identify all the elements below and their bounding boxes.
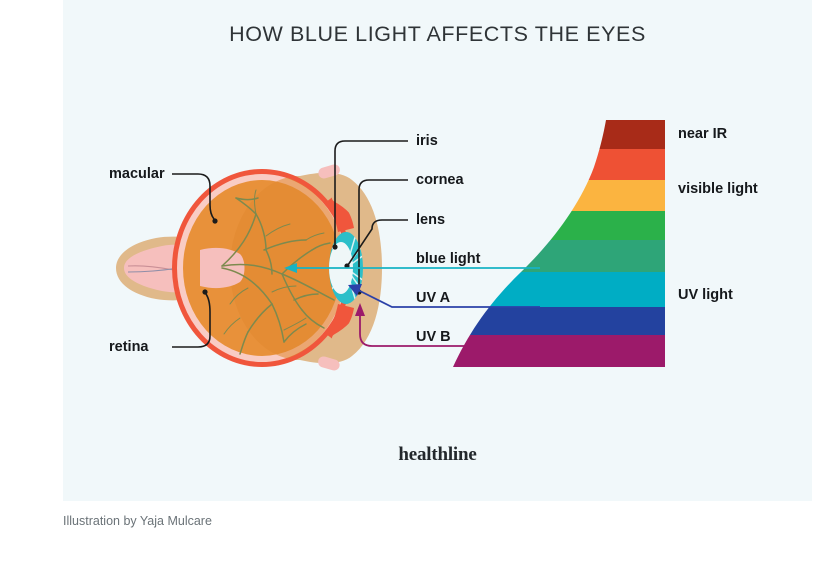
leader-dot-macular xyxy=(212,218,217,223)
leader-dot-iris xyxy=(332,244,337,249)
light-spectrum-fan xyxy=(440,118,670,370)
spectrum-band-magenta xyxy=(440,335,670,370)
spectrum-band-cyan xyxy=(440,272,670,307)
label-cornea: cornea xyxy=(416,173,464,188)
eye-spectrum-illustration xyxy=(0,0,830,501)
label-lens: lens xyxy=(416,213,445,228)
label-visible-light: visible light xyxy=(678,182,758,197)
label-near-ir: near IR xyxy=(678,127,727,142)
spectrum-band-blue xyxy=(440,307,670,335)
label-uv-a: UV A xyxy=(416,291,450,306)
spectrum-band-green xyxy=(440,211,670,240)
label-uv-light: UV light xyxy=(678,288,733,303)
label-macular: macular xyxy=(109,167,165,182)
label-iris: iris xyxy=(416,134,438,149)
label-uv-b: UV B xyxy=(416,330,451,345)
illustration-credit: Illustration by Yaja Mulcare xyxy=(63,514,212,528)
label-blue-light: blue light xyxy=(416,252,480,267)
infographic-root: HOW BLUE LIGHT AFFECTS THE EYES xyxy=(0,0,830,561)
spectrum-band-red xyxy=(440,149,670,180)
leader-dot-retina xyxy=(202,289,207,294)
label-retina: retina xyxy=(109,340,149,355)
healthline-wordmark: healthline xyxy=(63,444,812,466)
spectrum-band-near-infrared xyxy=(440,118,670,149)
spectrum-band-amber xyxy=(440,180,670,211)
